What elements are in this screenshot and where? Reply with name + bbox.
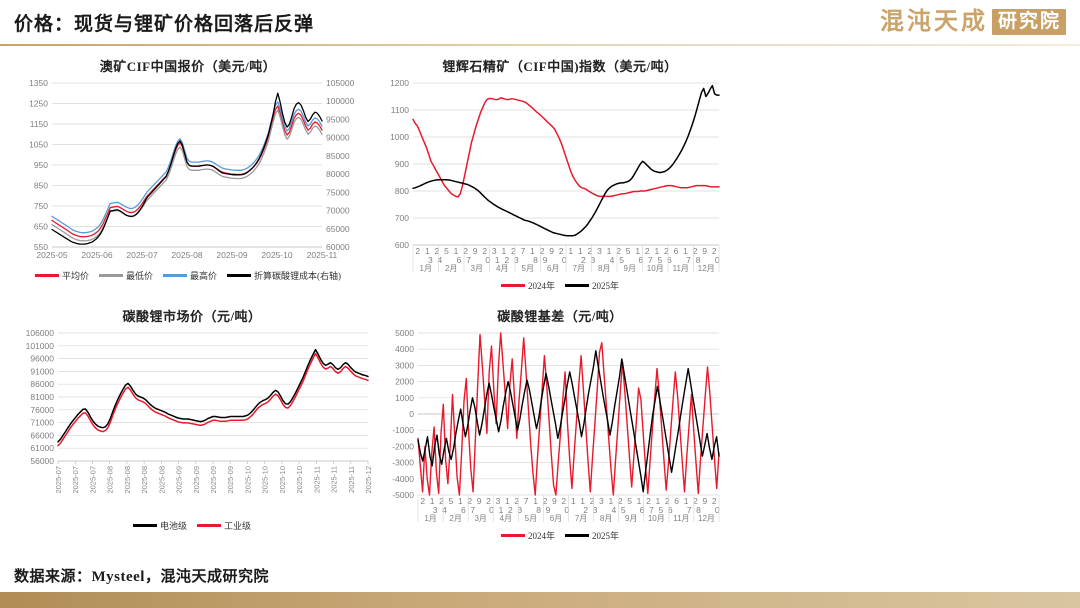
page-title: 价格：现货与锂矿价格回落后反弹 [14,9,314,36]
y-axis-tick-label: 56000 [30,456,54,466]
x-axis-day-tick-top: 1 [568,246,573,256]
chart-plot-area: 6007008009001000110012002132451627920311… [380,77,740,277]
chart-card-lithium-carbonate-basis: 碳酸锂基差（元/吨） -5000-4000-3000-2000-10000100… [380,306,740,542]
company-logo: 混沌天成 研究院 [880,6,1066,38]
x-axis-day-tick-top: 9 [473,246,478,256]
chart-plot-area: 5506507508509501050115012501350600006500… [8,77,368,267]
chart-title: 碳酸锂基差（元/吨） [380,306,740,325]
x-axis-month-label: 12月 [698,264,715,273]
series-line-1 [52,110,322,241]
x-axis-month-label: 1月 [420,264,432,273]
x-axis-month-label: 6月 [547,264,559,273]
footer-bar [0,592,1080,608]
chart-canvas: 5506507508509501050115012501350600006500… [8,77,368,267]
y2-axis-tick-label: 80000 [326,169,350,179]
x-axis-day-tick-top: 2 [420,496,425,506]
x-axis-day-tick-top: 9 [477,496,482,506]
y-axis-tick-label: 76000 [30,405,54,415]
x-axis-month-label: 6月 [550,514,562,523]
y-axis-tick-label: 66000 [30,430,54,440]
chart-legend: 2024年2025年 [380,279,740,292]
legend-item-1[interactable]: 2025年 [565,529,619,542]
legend-label: 最高价 [190,269,217,282]
x-axis-month-label: 4月 [500,514,512,523]
x-axis-month-label: 8月 [600,514,612,523]
y-axis-tick-label: 1250 [29,99,48,109]
data-source-note: 数据来源：Mysteel，混沌天成研究院 [14,565,269,586]
legend-item-0[interactable]: 2024年 [501,529,555,542]
x-axis-month-label: 5月 [522,264,534,273]
x-axis-day-tick-top: 9 [549,246,554,256]
y-axis-tick-label: 650 [34,222,48,232]
x-axis-day-tick-top: 9 [552,496,557,506]
y-axis-tick-label: 5000 [395,328,414,338]
x-axis-tick-label: 2025-05 [36,250,67,260]
x-axis-day-tick-top: 6 [674,496,679,506]
legend-swatch-icon [565,284,589,287]
legend-label: 平均价 [62,269,89,282]
legend-swatch-icon [501,534,525,537]
x-axis-tick-label: 2025-09 [216,250,247,260]
legend-label: 2025年 [592,279,619,292]
y-axis-tick-label: -3000 [392,458,414,468]
y2-axis-tick-label: 75000 [326,187,350,197]
y-axis-tick-label: 101000 [26,341,55,351]
y-axis-tick-label: -1000 [392,425,414,435]
x-axis-month-label: 10月 [648,514,665,523]
x-axis-day-tick-top: 5 [449,496,454,506]
x-axis-day-tick-top: 5 [626,246,631,256]
y2-axis-tick-label: 105000 [326,78,355,88]
x-axis-tick-label: 2025-10 [243,466,252,494]
legend-label: 最低价 [126,269,153,282]
chart-plot-area: 5600061000660007100076000810008600091000… [8,327,376,517]
y2-axis-tick-label: 95000 [326,114,350,124]
x-axis-month-label: 3月 [471,264,483,273]
x-axis-tick-label: 2025-11 [312,466,321,493]
y2-axis-tick-label: 90000 [326,133,350,143]
x-axis-month-label: 2月 [449,514,461,523]
x-axis-day-tick-top: 6 [674,246,679,256]
y2-axis-tick-label: 100000 [326,96,355,106]
x-axis-tick-label: 2025-08 [106,466,115,494]
x-axis-month-label: 8月 [598,264,610,273]
chart-legend: 平均价最低价最高价折算碳酸锂成本(右轴) [8,269,368,282]
y-axis-tick-label: 106000 [26,328,55,338]
legend-item-1[interactable]: 工业级 [197,519,251,532]
y-axis-tick-label: 750 [34,201,48,211]
x-axis-day-tick-top: 3 [599,496,604,506]
x-axis-tick-label: 2025-08 [140,466,149,494]
x-axis-tick-label: 2025-08 [171,250,202,260]
x-axis-tick-label: 2025-08 [157,466,166,494]
x-axis-tick-label: 2025-10 [261,250,292,260]
y-axis-tick-label: 1000 [395,393,414,403]
x-axis-month-label: 3月 [474,514,486,523]
x-axis-tick-label: 2025-10 [278,466,287,494]
x-axis-day-tick-top: 9 [702,246,707,256]
y-axis-tick-label: 0 [409,409,414,419]
legend-label: 电池级 [160,519,187,532]
y-axis-tick-label: 1350 [29,78,48,88]
x-axis-month-label: 1月 [424,514,436,523]
series-line-0 [52,106,322,237]
y-axis-tick-label: 3000 [395,360,414,370]
logo-badge: 研究院 [992,9,1066,35]
x-axis-month-label: 7月 [573,264,585,273]
legend-swatch-icon [227,274,251,277]
x-axis-tick-label: 2025-06 [81,250,112,260]
x-axis-month-label: 2月 [445,264,457,273]
series-line-1 [58,354,368,446]
legend-label: 工业级 [224,519,251,532]
y-axis-tick-label: 1100 [391,105,410,115]
legend-item-0[interactable]: 电池级 [133,519,187,532]
y2-axis-tick-label: 85000 [326,151,350,161]
legend-swatch-icon [501,284,525,287]
x-axis-tick-label: 2025-09 [175,466,184,494]
x-axis-day-tick-top: 5 [444,246,449,256]
chart-title: 碳酸锂市场价（元/吨） [8,306,376,325]
y-axis-tick-label: 800 [395,186,409,196]
y-axis-tick-label: 81000 [30,392,54,402]
legend-swatch-icon [163,274,187,277]
x-axis-tick-label: 2025-07 [54,466,63,494]
x-axis-month-label: 10月 [647,264,664,273]
y-axis-tick-label: 600 [395,240,409,250]
x-axis-tick-label: 2025-10 [295,466,304,494]
chart-card-spodumene-cif-index: 锂辉石精矿（CIF中国)指数（美元/吨） 6007008009001000110… [380,56,740,292]
x-axis-month-label: 7月 [575,514,587,523]
x-axis-day-tick-top: 7 [524,496,529,506]
legend-label: 折算碳酸锂成本(右轴) [254,269,341,282]
legend-item-0[interactable]: 2024年 [501,279,555,292]
y-axis-tick-label: 2000 [395,377,414,387]
chart-legend: 电池级工业级 [8,519,376,532]
legend-swatch-icon [565,534,589,537]
chart-legend: 2024年2025年 [380,529,740,542]
slide-header: 价格：现货与锂矿价格回落后反弹 混沌天成 研究院 [0,0,1080,46]
chart-canvas: -5000-4000-3000-2000-1000010002000300040… [380,327,725,527]
x-axis-tick-label: 2025-09 [209,466,218,494]
chart-card-lithium-carbonate-spot: 碳酸锂市场价（元/吨） 5600061000660007100076000810… [8,306,376,532]
x-axis-month-label: 9月 [624,264,636,273]
legend-swatch-icon [197,524,221,527]
y-axis-tick-label: -5000 [392,490,414,500]
y-axis-tick-label: 950 [34,160,48,170]
chart-title: 澳矿CIF中国报价（美元/吨） [8,56,368,75]
legend-item-0[interactable]: 平均价 [35,269,89,282]
logo-text: 混沌天成 [880,6,988,38]
y-axis-tick-label: 1200 [390,78,409,88]
x-axis-month-label: 11月 [673,514,689,523]
legend-item-3[interactable]: 折算碳酸锂成本(右轴) [227,269,341,282]
y-axis-tick-label: 61000 [30,443,54,453]
chart-title: 锂辉石精矿（CIF中国)指数（美元/吨） [380,56,740,75]
x-axis-day-tick-top: 5 [627,496,632,506]
x-axis-tick-label: 2025-11 [307,250,338,260]
x-axis-day-tick-top: 9 [703,496,708,506]
y-axis-tick-label: 4000 [395,344,414,354]
legend-swatch-icon [35,274,59,277]
legend-swatch-icon [99,274,123,277]
x-axis-tick-label: 2025-07 [88,466,97,494]
x-axis-tick-label: 2025-08 [123,466,132,494]
x-axis-day-tick-top: 3 [597,246,602,256]
y-axis-tick-label: -4000 [392,474,414,484]
y-axis-tick-label: 900 [395,159,409,169]
y-axis-tick-label: 1150 [30,119,49,129]
legend-item-2[interactable]: 最高价 [163,269,217,282]
y2-axis-tick-label: 70000 [326,206,350,216]
x-axis-tick-label: 2025-12 [364,466,373,494]
series-line-1 [418,351,719,492]
legend-item-1[interactable]: 最低价 [99,269,153,282]
y-axis-tick-label: 1000 [390,132,409,142]
x-axis-day-tick-top: 7 [521,246,526,256]
x-axis-tick-label: 2025-11 [330,466,339,493]
chart-card-aus-ore-cif: 澳矿CIF中国报价（美元/吨） 550650750850950105011501… [8,56,368,282]
chart-canvas: 5600061000660007100076000810008600091000… [8,327,374,517]
x-axis-tick-label: 2025-07 [126,250,157,260]
chart-canvas: 6007008009001000110012002132451627920311… [380,77,725,277]
x-axis-month-label: 12月 [698,514,715,523]
y2-axis-tick-label: 65000 [326,224,350,234]
legend-swatch-icon [133,524,157,527]
x-axis-tick-label: 2025-09 [226,466,235,494]
y-axis-tick-label: -2000 [392,441,414,451]
legend-label: 2024年 [528,279,555,292]
y-axis-tick-label: 850 [34,181,48,191]
chart-plot-area: -5000-4000-3000-2000-1000010002000300040… [380,327,740,527]
header-divider [0,44,1080,46]
x-axis-day-tick-top: 1 [571,496,576,506]
legend-item-1[interactable]: 2025年 [565,279,619,292]
x-axis-tick-label: 2025-07 [71,466,80,494]
x-axis-month-label: 5月 [525,514,537,523]
x-axis-tick-label: 2025-10 [261,466,270,494]
legend-label: 2024年 [528,529,555,542]
x-axis-month-label: 4月 [496,264,508,273]
x-axis-tick-label: 2025-09 [192,466,201,494]
legend-label: 2025年 [592,529,619,542]
y-axis-tick-label: 700 [395,213,409,223]
y-axis-tick-label: 96000 [30,354,54,364]
y-axis-tick-label: 71000 [30,418,54,428]
y-axis-tick-label: 91000 [30,366,54,376]
series-line-1 [413,86,719,236]
y-axis-tick-label: 1050 [29,140,48,150]
x-axis-tick-label: 2025-11 [347,466,356,493]
x-axis-month-label: 11月 [673,264,689,273]
y-axis-tick-label: 86000 [30,379,54,389]
x-axis-month-label: 9月 [625,514,637,523]
x-axis-day-tick-top: 2 [415,246,420,256]
